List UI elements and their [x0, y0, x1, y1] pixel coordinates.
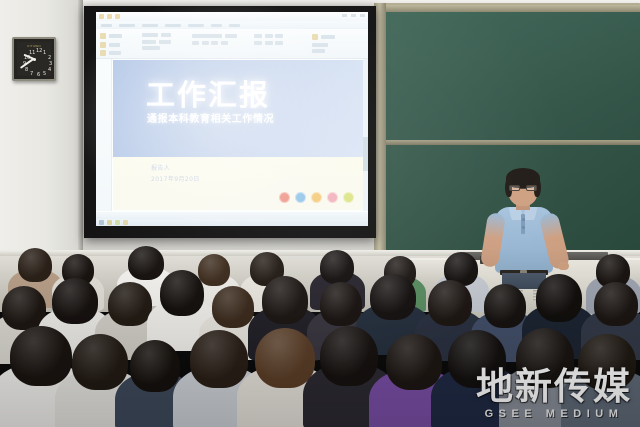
ribbon-group-font[interactable] [192, 34, 237, 45]
clock-numeral-4: 4 [48, 68, 51, 73]
chalkboard-rail [384, 140, 640, 145]
ribbon-group-slides[interactable] [142, 33, 171, 50]
slide-canvas[interactable]: 工作汇报 通报本科教育相关工作情况 报告人 2017年9月20日 [113, 60, 363, 210]
ribbon-button[interactable] [142, 33, 158, 37]
ribbon-button[interactable] [321, 35, 335, 39]
ribbon-button[interactable] [142, 46, 160, 50]
chalkboard-top-trim [378, 5, 640, 12]
audience-member-head [578, 334, 636, 390]
clock-face: CITIZEN 12 1 2 3 4 5 6 7 8 9 10 11 [17, 42, 51, 76]
tab-design[interactable] [165, 24, 181, 27]
align-right-icon[interactable] [265, 41, 273, 45]
wall-clock: CITIZEN 12 1 2 3 4 5 6 7 8 9 10 11 [12, 37, 56, 81]
slide-date: 2017年9月20日 [151, 176, 200, 183]
audience-member-head [594, 282, 638, 326]
audience-member-head [320, 326, 378, 386]
maximize-icon[interactable] [351, 14, 356, 17]
ribbon-group-drawing[interactable] [312, 34, 335, 53]
clock-numeral-6: 6 [37, 73, 40, 78]
undo-icon[interactable] [107, 14, 112, 19]
paste-icon[interactable] [100, 33, 106, 39]
ribbon-button[interactable] [142, 40, 156, 44]
status-bar [96, 212, 368, 219]
align-center-icon[interactable] [254, 41, 262, 45]
strikethrough-icon[interactable] [221, 41, 228, 45]
tab-transitions[interactable] [188, 24, 204, 27]
audience-member-head [536, 274, 582, 322]
shapes-icon[interactable] [312, 34, 318, 40]
bold-icon[interactable] [192, 41, 199, 45]
scrollbar-thumb[interactable] [363, 137, 368, 171]
dot-pink-icon [327, 192, 338, 203]
lecture-hall-photo: CITIZEN 12 1 2 3 4 5 6 7 8 9 10 11 [0, 0, 640, 427]
audience-member-head [18, 248, 52, 282]
dot-blue-icon [295, 192, 306, 203]
align-left-icon[interactable] [275, 34, 283, 38]
redo-icon[interactable] [115, 14, 120, 19]
app-icon-2[interactable] [115, 220, 120, 225]
audience-member-head [198, 254, 230, 286]
audience-member-head [320, 282, 362, 326]
presenter-button [522, 226, 525, 229]
italic-icon[interactable] [202, 41, 209, 45]
audience-member-head [130, 340, 180, 392]
ribbon-button[interactable] [109, 51, 121, 55]
vertical-scrollbar[interactable] [363, 59, 368, 211]
save-icon[interactable] [99, 14, 104, 19]
ribbon-tabs[interactable] [96, 21, 368, 29]
presenter-button [522, 218, 525, 221]
numbering-icon[interactable] [265, 34, 273, 38]
audience-member-head [262, 276, 308, 324]
audience-member-head [212, 286, 254, 328]
ribbon[interactable] [96, 29, 368, 59]
projection-screen: 工作汇报 通报本科教育相关工作情况 报告人 2017年9月20日 [96, 12, 368, 226]
tab-animations[interactable] [211, 24, 222, 27]
ribbon-button[interactable] [312, 43, 328, 47]
dot-lime-icon [343, 192, 354, 203]
audience-member-head [108, 282, 152, 326]
audience-member-head [72, 334, 128, 390]
clock-numeral-8: 8 [25, 68, 28, 73]
copy-icon[interactable] [100, 50, 106, 56]
dot-orange-icon [311, 192, 322, 203]
glasses-lens-right [526, 185, 537, 191]
tab-view[interactable] [229, 24, 240, 27]
ribbon-button[interactable] [109, 43, 120, 47]
seated-audience [0, 230, 640, 427]
clock-center-pin [33, 58, 36, 61]
clock-numeral-12: 12 [36, 49, 42, 54]
app-icon-1[interactable] [107, 220, 112, 225]
font-size-box[interactable] [225, 34, 237, 38]
powerpoint-window: 工作汇报 通报本科教育相关工作情况 报告人 2017年9月20日 [96, 12, 368, 226]
ribbon-group-paragraph[interactable] [254, 34, 283, 45]
window-titlebar [96, 12, 368, 21]
quick-access-toolbar[interactable] [99, 14, 120, 19]
cut-icon[interactable] [100, 42, 106, 48]
ribbon-button[interactable] [109, 34, 122, 38]
glasses-lens-left [509, 185, 520, 191]
app-icon-3[interactable] [123, 220, 128, 225]
tab-insert[interactable] [142, 24, 158, 27]
audience-member-head [128, 246, 164, 280]
window-controls[interactable] [342, 14, 365, 17]
audience-member-head [320, 250, 354, 284]
slide-decorative-dots [279, 192, 354, 203]
tab-home[interactable] [119, 24, 135, 27]
ribbon-button[interactable] [159, 40, 171, 44]
audience-member-head [52, 278, 98, 324]
audience-member-head [160, 270, 204, 316]
audience-member-head [190, 330, 248, 388]
ribbon-button[interactable] [312, 49, 325, 53]
slide-subtitle: 通报本科教育相关工作情况 [147, 114, 274, 125]
bullets-icon[interactable] [254, 34, 262, 38]
audience-member-head [370, 274, 416, 320]
slide-title: 工作汇报 [146, 80, 270, 110]
start-icon[interactable] [99, 220, 104, 225]
slide-thumbnail-pane[interactable] [96, 59, 112, 211]
audience-member-head [386, 334, 442, 390]
clock-numeral-5: 5 [43, 72, 46, 77]
minimize-icon[interactable] [342, 14, 347, 17]
tab-file[interactable] [101, 24, 112, 27]
ribbon-group-clipboard[interactable] [100, 33, 122, 56]
close-icon[interactable] [360, 14, 365, 17]
font-name-box[interactable] [192, 34, 222, 38]
clock-numeral-1: 1 [43, 51, 46, 56]
glasses-icon [509, 185, 537, 191]
desktop-taskbar[interactable] [96, 219, 368, 226]
dot-red-icon [279, 192, 290, 203]
ribbon-button[interactable] [161, 33, 171, 37]
audience-member-head [10, 326, 72, 386]
audience-member-head [428, 280, 472, 326]
line-spacing-icon[interactable] [275, 41, 283, 45]
underline-icon[interactable] [211, 41, 218, 45]
slide-presenter-name: 报告人 [151, 165, 170, 172]
audience-member-head [448, 330, 506, 388]
clock-numeral-7: 7 [30, 72, 33, 77]
audience-member-head [516, 328, 574, 388]
audience-member-head [255, 328, 315, 388]
audience-member-head [484, 284, 526, 328]
